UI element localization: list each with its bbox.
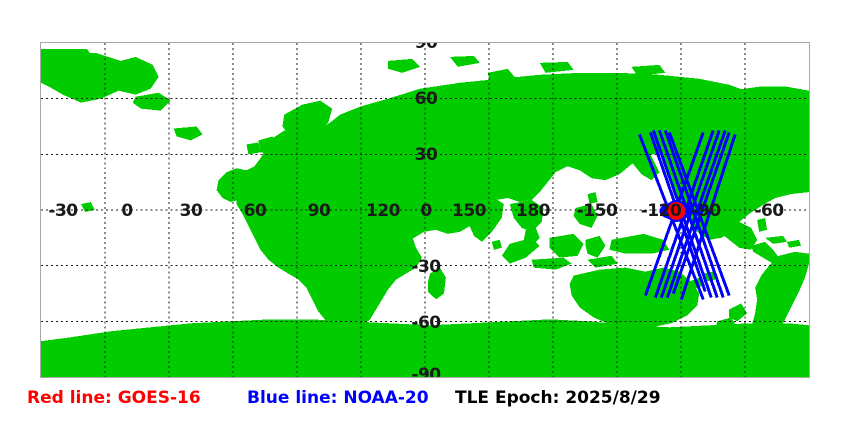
borneo bbox=[550, 234, 584, 258]
greenland bbox=[41, 53, 159, 103]
florida bbox=[757, 218, 767, 232]
baffin-island bbox=[133, 93, 171, 111]
goes16-marker bbox=[667, 202, 685, 220]
world-map-plot-area[interactable]: 90 60 30 0 -30 -60 -90 -30 0 30 60 90 12… bbox=[40, 42, 810, 378]
iceland bbox=[174, 127, 203, 141]
mexico bbox=[721, 222, 757, 250]
legend-tle-epoch: TLE Epoch: 2025/8/29 bbox=[455, 388, 661, 408]
hispaniola bbox=[787, 240, 801, 248]
indochina bbox=[510, 200, 544, 232]
legend-red-line-goes16: Red line: GOES-16 bbox=[27, 388, 201, 408]
ireland bbox=[246, 142, 260, 154]
legend-blue-line-noaa20: Blue line: NOAA-20 bbox=[247, 388, 429, 408]
legend: Red line: GOES-16 Blue line: NOAA-20 TLE… bbox=[0, 388, 850, 422]
world-map-canvas bbox=[41, 43, 809, 377]
madagascar bbox=[428, 268, 446, 300]
sri-lanka bbox=[492, 240, 502, 250]
timor-islands bbox=[588, 256, 618, 268]
java bbox=[532, 258, 572, 270]
goes16-position-layer bbox=[667, 202, 685, 220]
indian-subcontinent bbox=[466, 196, 504, 242]
svalbard bbox=[388, 59, 420, 73]
franz-josef-land bbox=[450, 56, 480, 67]
taiwan bbox=[588, 192, 598, 204]
cuba bbox=[765, 236, 787, 244]
severnaya-zemlya bbox=[540, 62, 574, 73]
sulawesi bbox=[586, 236, 606, 258]
black-sea-region bbox=[332, 158, 380, 174]
philippines bbox=[574, 204, 598, 228]
satellite-ground-track-map: 90 60 30 0 -30 -60 -90 -30 0 30 60 90 12… bbox=[0, 0, 850, 425]
